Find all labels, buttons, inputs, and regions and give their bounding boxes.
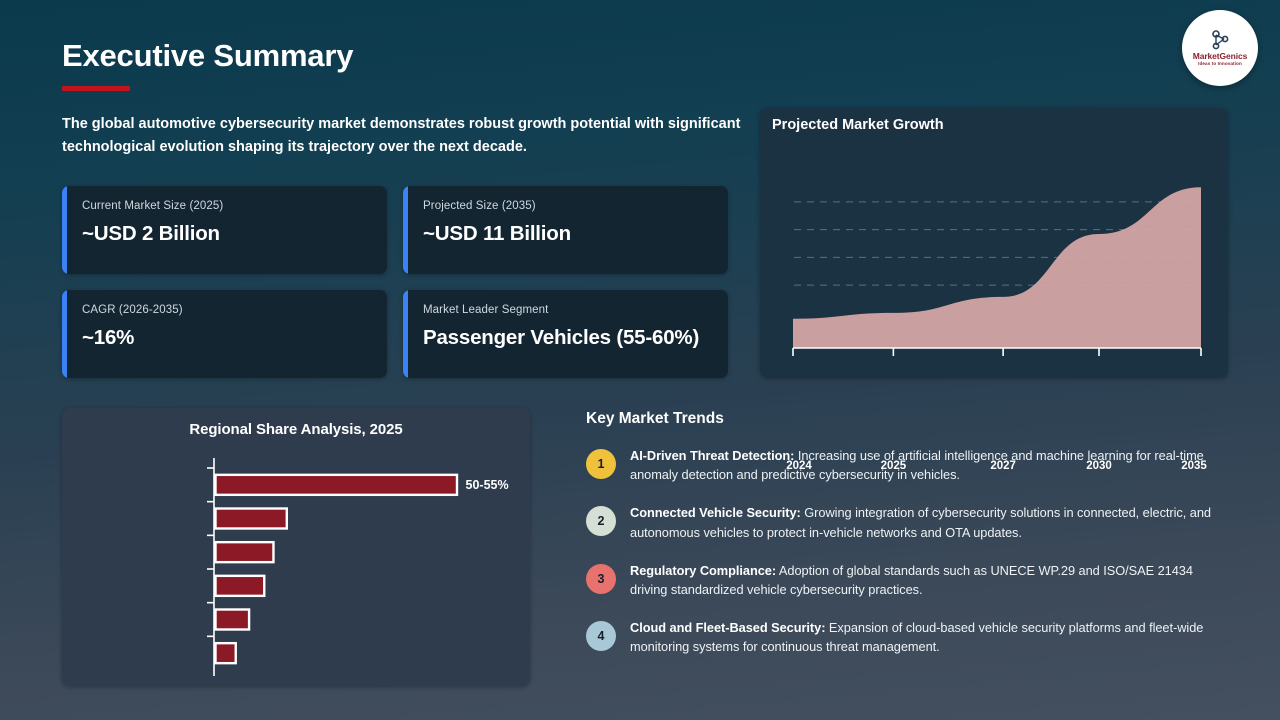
trend-text: AI-Driven Threat Detection: Increasing u… <box>630 446 1232 484</box>
stat-value: ~16% <box>82 326 387 350</box>
trend-number-badge: 1 <box>586 449 616 479</box>
node-graph-icon <box>1207 29 1233 51</box>
stat-label: Current Market Size (2025) <box>82 200 387 214</box>
stat-card-projected-size: Projected Size (2035) ~USD 11 Billion <box>403 186 728 274</box>
trend-item: 1AI-Driven Threat Detection: Increasing … <box>586 446 1232 484</box>
trend-heading: AI-Driven Threat Detection: <box>630 448 794 463</box>
bar-value-label: 50-55% <box>466 478 509 492</box>
stat-label: CAGR (2026-2035) <box>82 304 387 318</box>
trend-heading: Cloud and Fleet-Based Security: <box>630 620 825 635</box>
projected-market-growth-panel: Projected Market Growth 2024202520272030… <box>760 108 1228 378</box>
chart-title: Regional Share Analysis, 2025 <box>62 421 530 438</box>
trend-item: 4Cloud and Fleet-Based Security: Expansi… <box>586 618 1232 656</box>
trend-item: 3Regulatory Compliance: Adoption of glob… <box>586 561 1232 599</box>
stat-card-grid: Current Market Size (2025) ~USD 2 Billio… <box>62 186 728 394</box>
trend-heading: Connected Vehicle Security: <box>630 505 801 520</box>
stat-label: Projected Size (2035) <box>423 200 728 214</box>
stat-card-current-market-size: Current Market Size (2025) ~USD 2 Billio… <box>62 186 387 274</box>
key-market-trends: Key Market Trends 1AI-Driven Threat Dete… <box>586 410 1232 676</box>
title-accent-rule <box>62 86 130 91</box>
stat-card-market-leader-segment: Market Leader Segment Passenger Vehicles… <box>403 290 728 378</box>
stat-label: Market Leader Segment <box>423 304 728 318</box>
brand-logo: MarketGenics Ideas to Innovation <box>1182 10 1258 86</box>
projected-market-growth-chart <box>760 140 1228 378</box>
stat-value: ~USD 11 Billion <box>423 222 728 246</box>
trend-text: Cloud and Fleet-Based Security: Expansio… <box>630 618 1232 656</box>
logo-name: MarketGenics <box>1193 52 1248 61</box>
stat-value: Passenger Vehicles (55-60%) <box>423 326 728 350</box>
trend-number-badge: 4 <box>586 621 616 651</box>
trend-number-badge: 3 <box>586 564 616 594</box>
trend-heading: Regulatory Compliance: <box>630 563 776 578</box>
trend-text: Regulatory Compliance: Adoption of globa… <box>630 561 1232 599</box>
trend-list: 1AI-Driven Threat Detection: Increasing … <box>586 446 1232 657</box>
bar-value-labels: 50-55% <box>62 454 530 680</box>
stat-card-cagr: CAGR (2026-2035) ~16% <box>62 290 387 378</box>
trend-number-badge: 2 <box>586 506 616 536</box>
regional-share-panel: Regional Share Analysis, 2025 Asia Pacif… <box>62 408 530 686</box>
intro-paragraph: The global automotive cybersecurity mark… <box>62 113 752 159</box>
x-axis-ticks <box>793 348 1201 356</box>
trends-heading: Key Market Trends <box>586 410 1232 428</box>
logo-tagline: Ideas to Innovation <box>1198 62 1242 67</box>
trend-text: Connected Vehicle Security: Growing inte… <box>630 503 1232 541</box>
stat-value: ~USD 2 Billion <box>82 222 387 246</box>
chart-title: Projected Market Growth <box>772 117 944 133</box>
page-title: Executive Summary <box>62 38 353 74</box>
area-series-fill <box>793 187 1201 348</box>
trend-item: 2Connected Vehicle Security: Growing int… <box>586 503 1232 541</box>
